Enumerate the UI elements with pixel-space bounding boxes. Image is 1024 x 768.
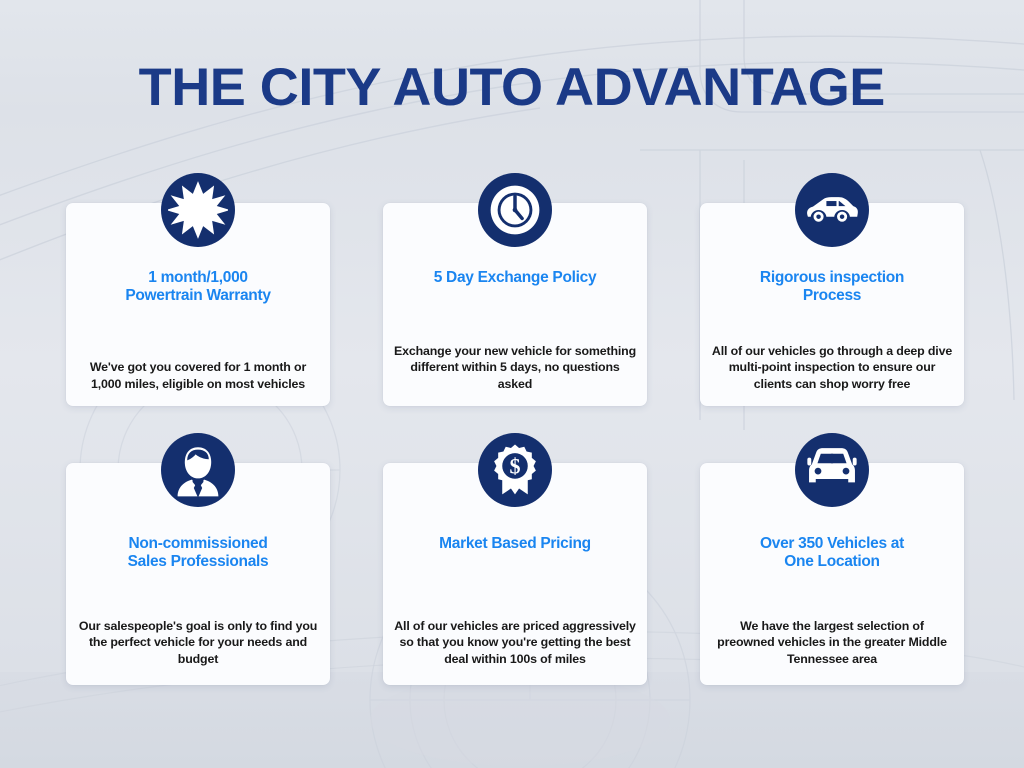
businessperson-icon <box>161 433 235 507</box>
advantage-card-inspection-process[interactable]: Rigorous inspection Process All of our v… <box>700 203 964 406</box>
card-body-text: All of our vehicles are priced aggressiv… <box>393 618 637 668</box>
card-body-text: All of our vehicles go through a deep di… <box>710 343 954 393</box>
advantage-card-powertrain-warranty[interactable]: 1 month/1,000 Powertrain Warranty We've … <box>66 203 330 406</box>
card-heading: 1 month/1,000 Powertrain Warranty <box>76 269 320 305</box>
page-title-container: THE CITY AUTO ADVANTAGE <box>0 0 1024 175</box>
card-heading-line-1: Market Based Pricing <box>393 535 637 553</box>
card-body-text: We've got you covered for 1 month or 1,0… <box>76 359 320 392</box>
advantage-card-vehicle-inventory[interactable]: Over 350 Vehicles at One Location We hav… <box>700 463 964 685</box>
advantage-cards-grid: 1 month/1,000 Powertrain Warranty We've … <box>66 203 974 685</box>
card-heading-line-2: Sales Professionals <box>76 553 320 571</box>
card-heading-line-1: Rigorous inspection <box>710 269 954 287</box>
page-title: THE CITY AUTO ADVANTAGE <box>139 57 885 118</box>
card-body-text: We have the largest selection of preowne… <box>710 618 954 668</box>
card-body-text: Exchange your new vehicle for something … <box>393 343 637 393</box>
dollar-award-badge-icon: $ <box>478 433 552 507</box>
clock-icon <box>478 173 552 247</box>
card-heading-line-1: 1 month/1,000 <box>76 269 320 287</box>
car-front-icon <box>795 433 869 507</box>
card-heading: Rigorous inspection Process <box>710 269 954 305</box>
card-heading: Market Based Pricing <box>393 535 637 553</box>
card-heading-line-1: 5 Day Exchange Policy <box>393 269 637 287</box>
car-side-icon <box>795 173 869 247</box>
card-heading: Over 350 Vehicles at One Location <box>710 535 954 571</box>
card-heading-line-2: Powertrain Warranty <box>76 287 320 305</box>
starburst-icon <box>161 173 235 247</box>
advantage-card-exchange-policy[interactable]: 5 Day Exchange Policy Exchange your new … <box>383 203 647 406</box>
card-heading-line-2: One Location <box>710 553 954 571</box>
card-heading-line-2: Process <box>710 287 954 305</box>
card-heading: Non-commissioned Sales Professionals <box>76 535 320 571</box>
card-heading-line-1: Over 350 Vehicles at <box>710 535 954 553</box>
card-heading-line-1: Non-commissioned <box>76 535 320 553</box>
advantage-card-non-commissioned-sales[interactable]: Non-commissioned Sales Professionals Our… <box>66 463 330 685</box>
svg-text:$: $ <box>509 453 520 478</box>
advantage-card-market-based-pricing[interactable]: $ Market Based Pricing All of our vehicl… <box>383 463 647 685</box>
card-heading: 5 Day Exchange Policy <box>393 269 637 287</box>
card-body-text: Our salespeople's goal is only to find y… <box>76 618 320 668</box>
